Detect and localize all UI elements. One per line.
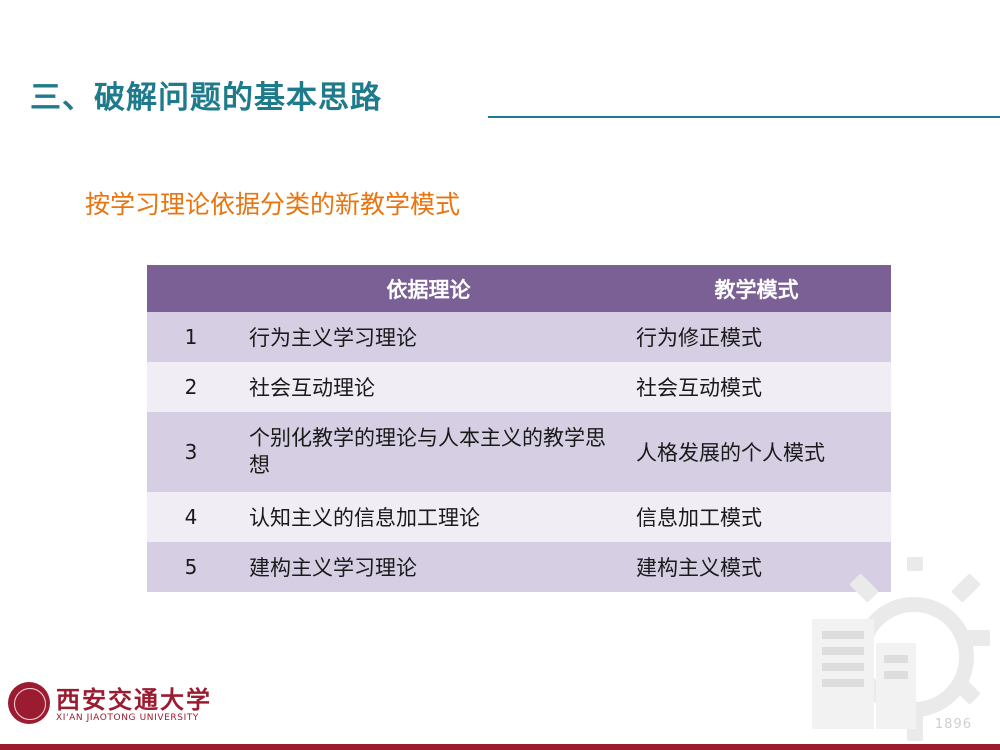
modes-table-wrap: 依据理论 教学模式 1 行为主义学习理论 行为修正模式 2 社会互动理论 社会互… <box>147 265 891 592</box>
university-name-cn: 西安交通大学 <box>56 680 212 715</box>
row-theory: 认知主义的信息加工理论 <box>235 492 622 542</box>
row-index: 4 <box>147 492 235 542</box>
row-theory: 个别化教学的理论与人本主义的教学思想 <box>235 412 622 492</box>
founding-year: 1896 <box>935 717 972 732</box>
row-theory: 行为主义学习理论 <box>235 312 622 362</box>
title-underline <box>488 116 1000 118</box>
row-mode: 社会互动模式 <box>622 362 891 412</box>
row-index: 5 <box>147 542 235 592</box>
row-theory-text: 个别化教学的理论与人本主义的教学思想 <box>249 425 622 480</box>
header-mode: 教学模式 <box>622 265 891 312</box>
row-theory: 社会互动理论 <box>235 362 622 412</box>
table-row: 1 行为主义学习理论 行为修正模式 <box>147 312 891 362</box>
university-name-en: XI'AN JIAOTONG UNIVERSITY <box>56 713 199 723</box>
bottom-accent-bar <box>0 744 1000 750</box>
university-logo: 西安交通大学 XI'AN JIAOTONG UNIVERSITY <box>8 680 198 736</box>
page-title: 三、破解问题的基本思路 <box>30 78 382 118</box>
table-row: 3 个别化教学的理论与人本主义的教学思想 人格发展的个人模式 <box>147 412 891 492</box>
header-index <box>147 265 235 312</box>
gear-watermark-icon <box>794 557 994 742</box>
table-row: 5 建构主义学习理论 建构主义模式 <box>147 542 891 592</box>
row-mode: 人格发展的个人模式 <box>622 412 891 492</box>
title-row: 三、破解问题的基本思路 <box>0 78 1000 128</box>
row-index: 1 <box>147 312 235 362</box>
table-row: 2 社会互动理论 社会互动模式 <box>147 362 891 412</box>
row-index: 2 <box>147 362 235 412</box>
header-theory: 依据理论 <box>235 265 622 312</box>
slide-root: 三、破解问题的基本思路 按学习理论依据分类的新教学模式 依据理论 教学模式 1 … <box>0 0 1000 750</box>
modes-table: 依据理论 教学模式 1 行为主义学习理论 行为修正模式 2 社会互动理论 社会互… <box>147 265 891 592</box>
row-theory: 建构主义学习理论 <box>235 542 622 592</box>
subtitle: 按学习理论依据分类的新教学模式 <box>85 185 460 221</box>
table-row: 4 认知主义的信息加工理论 信息加工模式 <box>147 492 891 542</box>
row-mode: 行为修正模式 <box>622 312 891 362</box>
seal-icon <box>8 682 50 724</box>
table-header-row: 依据理论 教学模式 <box>147 265 891 312</box>
row-mode: 信息加工模式 <box>622 492 891 542</box>
row-index: 3 <box>147 412 235 492</box>
